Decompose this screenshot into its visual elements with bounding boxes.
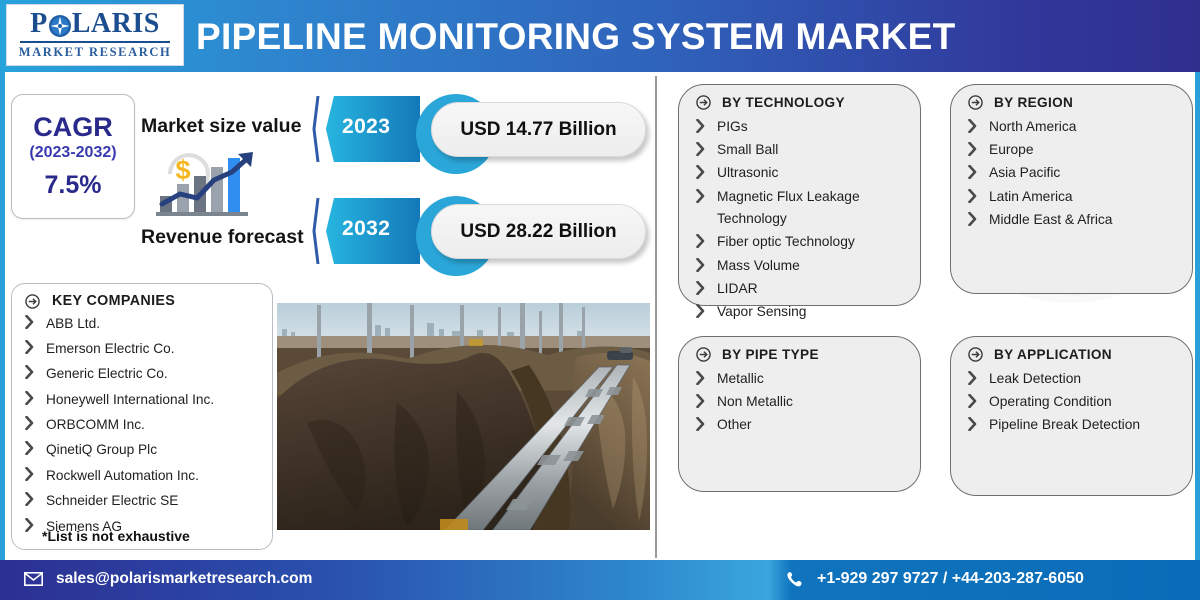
- chevron-right-icon: [968, 189, 977, 203]
- chevron-right-icon: [696, 165, 705, 179]
- chevron-right-icon: [968, 417, 977, 431]
- list-item[interactable]: Emerson Electric Co.: [25, 336, 272, 361]
- cagr-card: CAGR (2023-2032) 7.5%: [11, 94, 135, 219]
- chevron-right-icon: [696, 281, 705, 295]
- application-panel: BY APPLICATION Leak DetectionOperating C…: [950, 336, 1193, 496]
- chevron-right-icon: [25, 391, 34, 405]
- chevron-right-icon: [696, 304, 705, 318]
- cagr-value: 7.5%: [45, 171, 102, 200]
- list-item[interactable]: Middle East & Africa: [968, 208, 1192, 231]
- list-item[interactable]: ABB Ltd.: [25, 311, 272, 336]
- list-item-label: LIDAR: [717, 278, 758, 300]
- technology-panel: BY TECHNOLOGY PIGsSmall BallUltrasonicMa…: [678, 84, 921, 306]
- logo-letter-p: P: [30, 10, 48, 38]
- revenue-forecast-pill: USD 28.22 Billion: [431, 204, 646, 259]
- chevron-right-icon: [696, 189, 705, 203]
- technology-list: PIGsSmall BallUltrasonicMagnetic Flux Le…: [679, 112, 920, 324]
- arrow-circle-icon: [968, 347, 983, 362]
- key-companies-panel: KEY COMPANIES ABB Ltd.Emerson Electric C…: [11, 283, 273, 550]
- list-item-label: Pipeline Break Detection: [989, 414, 1140, 436]
- list-item[interactable]: North America: [968, 115, 1192, 138]
- chevron-right-icon: [968, 371, 977, 385]
- key-companies-list: ABB Ltd.Emerson Electric Co.Generic Elec…: [12, 310, 272, 540]
- list-item[interactable]: ORBCOMM Inc.: [25, 413, 272, 438]
- list-item[interactable]: Non Metallic: [696, 390, 920, 413]
- pipe-type-header: BY PIPE TYPE: [679, 337, 920, 364]
- list-item[interactable]: Mass Volume: [696, 254, 920, 277]
- phone-icon: [786, 571, 803, 588]
- list-item-label: Ultrasonic: [717, 162, 778, 184]
- logo-wordmark: P LARIS: [30, 10, 160, 38]
- pipeline-trench-photo: [277, 303, 650, 530]
- chevron-right-icon: [25, 518, 34, 532]
- list-item[interactable]: Asia Pacific: [968, 162, 1192, 185]
- list-item[interactable]: Honeywell International Inc.: [25, 387, 272, 412]
- list-item-label: Honeywell International Inc.: [46, 388, 214, 412]
- chevron-right-icon: [696, 394, 705, 408]
- list-item-label: ABB Ltd.: [46, 312, 100, 336]
- list-item-label: Schneider Electric SE: [46, 489, 178, 513]
- arrow-circle-icon: [968, 95, 983, 110]
- list-item[interactable]: LIDAR: [696, 277, 920, 300]
- list-item[interactable]: QinetiQ Group Plc: [25, 438, 272, 463]
- page-header: P LARIS MARKET RESEARCH PIPELINE MONITOR…: [0, 0, 1200, 72]
- chevron-right-icon: [25, 441, 34, 455]
- chevron-right-icon: [968, 165, 977, 179]
- application-header: BY APPLICATION: [951, 337, 1192, 364]
- list-item[interactable]: Fiber optic Technology: [696, 231, 920, 254]
- list-item-label: Operating Condition: [989, 391, 1112, 413]
- chevron-right-icon: [25, 340, 34, 354]
- vertical-divider: [655, 76, 657, 558]
- logo-divider: [20, 41, 170, 43]
- chevron-right-icon: [968, 142, 977, 156]
- key-companies-header: KEY COMPANIES: [12, 284, 272, 310]
- list-item-label: Emerson Electric Co.: [46, 337, 175, 361]
- application-list: Leak DetectionOperating ConditionPipelin…: [951, 364, 1192, 437]
- list-item[interactable]: Magnetic Flux Leakage Technology: [696, 185, 920, 231]
- list-item[interactable]: Other: [696, 414, 920, 437]
- list-item[interactable]: Rockwell Automation Inc.: [25, 463, 272, 488]
- list-item[interactable]: Generic Electric Co.: [25, 362, 272, 387]
- list-item[interactable]: Vapor Sensing: [696, 301, 920, 324]
- list-item-label: Europe: [989, 139, 1034, 161]
- list-item-label: Asia Pacific: [989, 162, 1060, 184]
- region-title: BY REGION: [994, 95, 1073, 110]
- arrow-circle-icon: [25, 294, 40, 309]
- technology-title: BY TECHNOLOGY: [722, 95, 845, 110]
- list-item-label: Magnetic Flux Leakage Technology: [717, 186, 920, 231]
- list-item[interactable]: Leak Detection: [968, 367, 1192, 390]
- chevron-right-icon: [968, 119, 977, 133]
- arrow-circle-icon: [696, 95, 711, 110]
- region-header: BY REGION: [951, 85, 1192, 112]
- list-item-label: Vapor Sensing: [717, 301, 806, 323]
- footer-phone-block[interactable]: +1-929 297 9727 / +44-203-287-6050: [786, 570, 1084, 588]
- list-item-label: Mass Volume: [717, 255, 800, 277]
- chevron-right-icon: [25, 315, 34, 329]
- chevron-right-icon: [968, 394, 977, 408]
- application-title: BY APPLICATION: [994, 347, 1112, 362]
- list-item[interactable]: Operating Condition: [968, 390, 1192, 413]
- key-companies-title: KEY COMPANIES: [52, 293, 175, 309]
- footer-email-block[interactable]: sales@polarismarketresearch.com: [24, 570, 312, 588]
- arrow-circle-icon: [696, 347, 711, 362]
- chevron-right-icon: [25, 492, 34, 506]
- polaris-logo[interactable]: P LARIS MARKET RESEARCH: [6, 4, 184, 66]
- list-item-label: ORBCOMM Inc.: [46, 413, 145, 437]
- list-item-label: Other: [717, 414, 752, 436]
- list-item-label: Middle East & Africa: [989, 209, 1112, 231]
- revenue-forecast-value: USD 28.22 Billion: [460, 221, 616, 243]
- list-item-label: Rockwell Automation Inc.: [46, 464, 199, 488]
- pipe-type-panel: BY PIPE TYPE MetallicNon MetallicOther: [678, 336, 921, 492]
- list-item[interactable]: Europe: [968, 138, 1192, 161]
- year-label-2032: 2032: [342, 217, 390, 241]
- growth-chart-icon: $: [152, 148, 260, 222]
- chevron-right-icon: [696, 142, 705, 156]
- list-item-label: PIGs: [717, 116, 748, 138]
- list-item-label: Generic Electric Co.: [46, 362, 168, 386]
- cagr-period: (2023-2032): [29, 144, 116, 162]
- list-item[interactable]: Schneider Electric SE: [25, 489, 272, 514]
- pipe-type-list: MetallicNon MetallicOther: [679, 364, 920, 437]
- svg-text:$: $: [175, 155, 190, 185]
- chevron-right-icon: [25, 365, 34, 379]
- list-item-label: Metallic: [717, 368, 764, 390]
- list-item[interactable]: Small Ball: [696, 138, 920, 161]
- list-item-label: Fiber optic Technology: [717, 231, 855, 253]
- page-title: PIPELINE MONITORING SYSTEM MARKET: [196, 14, 1126, 60]
- envelope-icon: [24, 572, 43, 586]
- page-footer: sales@polarismarketresearch.com +1-929 2…: [0, 560, 1200, 600]
- pipe-type-title: BY PIPE TYPE: [722, 347, 819, 362]
- market-size-label: Market size value: [141, 115, 301, 138]
- chevron-right-icon: [696, 371, 705, 385]
- list-item[interactable]: Metallic: [696, 367, 920, 390]
- list-item-label: Latin America: [989, 186, 1073, 208]
- year-label-2023: 2023: [342, 115, 390, 139]
- chevron-right-icon: [968, 212, 977, 226]
- list-item[interactable]: Latin America: [968, 185, 1192, 208]
- chevron-right-icon: [25, 467, 34, 481]
- list-item-label: QinetiQ Group Plc: [46, 438, 157, 462]
- region-list: North AmericaEuropeAsia PacificLatin Ame…: [951, 112, 1192, 232]
- chevron-right-icon: [696, 234, 705, 248]
- footer-phone-text: +1-929 297 9727 / +44-203-287-6050: [817, 570, 1084, 588]
- market-size-pill: USD 14.77 Billion: [431, 102, 646, 157]
- chevron-right-icon: [696, 119, 705, 133]
- compass-star-icon: [48, 14, 72, 38]
- chevron-right-icon: [696, 258, 705, 272]
- list-item-label: North America: [989, 116, 1076, 138]
- market-size-value: USD 14.77 Billion: [460, 119, 616, 141]
- cagr-label: CAGR: [33, 113, 113, 141]
- key-companies-note: *List is not exhaustive: [42, 528, 190, 544]
- chevron-right-icon: [696, 417, 705, 431]
- list-item[interactable]: Ultrasonic: [696, 162, 920, 185]
- region-panel: BY REGION North AmericaEuropeAsia Pacifi…: [950, 84, 1193, 294]
- list-item-label: Leak Detection: [989, 368, 1081, 390]
- logo-tagline: MARKET RESEARCH: [19, 45, 172, 60]
- list-item[interactable]: Pipeline Break Detection: [968, 414, 1192, 437]
- list-item[interactable]: PIGs: [696, 115, 920, 138]
- technology-header: BY TECHNOLOGY: [679, 85, 920, 112]
- revenue-forecast-label: Revenue forecast: [141, 226, 304, 249]
- chevron-right-icon: [25, 416, 34, 430]
- logo-letters-laris: LARIS: [72, 10, 160, 38]
- list-item-label: Small Ball: [717, 139, 778, 161]
- list-item-label: Non Metallic: [717, 391, 793, 413]
- footer-email-text: sales@polarismarketresearch.com: [56, 570, 312, 588]
